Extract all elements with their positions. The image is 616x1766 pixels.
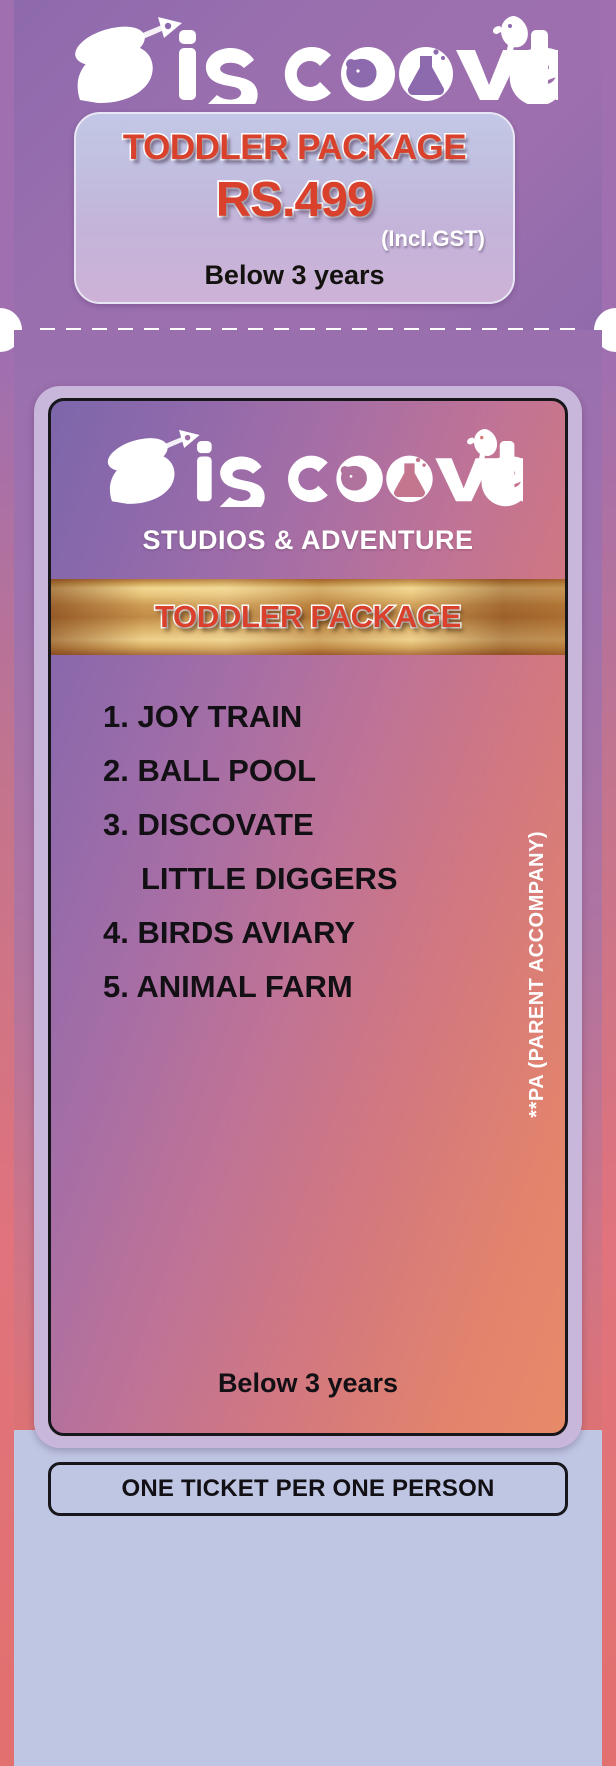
stub-age-note: Below 3 years xyxy=(76,260,513,291)
brand-logo xyxy=(14,14,602,104)
policy-box: ONE TICKET PER ONE PERSON xyxy=(48,1462,568,1516)
list-item: 2. BALL POOL xyxy=(103,755,503,786)
mouse-icon xyxy=(341,47,395,101)
flask-icon xyxy=(399,47,453,101)
list-item: LITTLE DIGGERS xyxy=(103,863,503,894)
stub-gst-note: (Incl.GST) xyxy=(381,226,485,252)
package-items-list: 1. JOY TRAIN 2. BALL POOL 3. DISCOVATE L… xyxy=(103,701,503,1025)
mouse-icon xyxy=(336,456,382,502)
stub-package-title: TODDLER PACKAGE xyxy=(76,128,513,168)
logo-d-letter xyxy=(104,432,175,504)
ticket-stub: TODDLER PACKAGE RS.499 (Incl.GST) Below … xyxy=(14,0,602,330)
gold-banner: TODDLER PACKAGE xyxy=(51,579,565,655)
card-age-note: Below 3 years xyxy=(51,1368,565,1399)
list-item: 4. BIRDS AVIARY xyxy=(103,917,503,948)
card-brand-logo xyxy=(51,425,565,507)
flask-icon xyxy=(386,456,432,502)
stub-price: RS.499 xyxy=(76,172,513,228)
list-item: 1. JOY TRAIN xyxy=(103,701,503,732)
ticket: TODDLER PACKAGE RS.499 (Incl.GST) Below … xyxy=(0,0,616,1766)
list-item: 5. ANIMAL FARM xyxy=(103,971,503,1002)
brand-tagline: STUDIOS & ADVENTURE xyxy=(51,525,565,556)
logo-d-letter xyxy=(71,19,153,103)
price-box: TODDLER PACKAGE RS.499 (Incl.GST) Below … xyxy=(74,112,515,304)
list-item: 3. DISCOVATE xyxy=(103,809,503,840)
parent-accompany-note: **PA (PARENT ACCOMPANY) xyxy=(526,831,549,1118)
main-card: STUDIOS & ADVENTURE TODDLER PACKAGE 1. J… xyxy=(48,398,568,1436)
policy-text: ONE TICKET PER ONE PERSON xyxy=(121,1475,494,1503)
card-package-title: TODDLER PACKAGE xyxy=(155,599,461,635)
